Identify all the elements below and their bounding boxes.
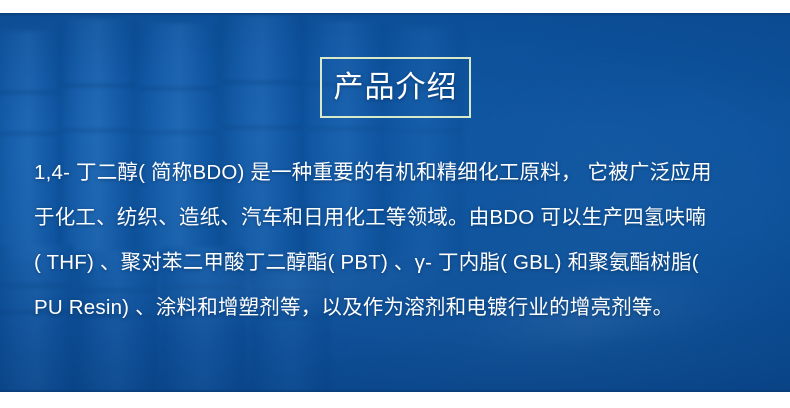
top-letterbox-bar <box>0 0 790 13</box>
bottom-letterbox-bar <box>0 392 790 408</box>
product-intro-banner: 产品介绍 1,4- 丁二醇( 简称BDO) 是一种重要的有机和精细化工原料， 它… <box>0 0 790 408</box>
section-title-box: 产品介绍 <box>320 57 471 118</box>
description-line: 于化工、纺织、造纸、汽车和日用化工等领域。由BDO 可以生产四氢呋喃 <box>34 195 760 240</box>
product-description: 1,4- 丁二醇( 简称BDO) 是一种重要的有机和精细化工原料， 它被广泛应用… <box>34 150 760 330</box>
description-line: ( THF) 、聚对苯二甲酸丁二醇酯( PBT) 、γ- 丁内脂( GBL) 和… <box>34 240 760 285</box>
photo-top-seam <box>0 13 790 16</box>
section-title: 产品介绍 <box>334 73 458 103</box>
description-line: PU Resin) 、涂料和增塑剂等，以及作为溶剂和电镀行业的增亮剂等。 <box>34 285 760 330</box>
description-line: 1,4- 丁二醇( 简称BDO) 是一种重要的有机和精细化工原料， 它被广泛应用 <box>34 150 760 195</box>
